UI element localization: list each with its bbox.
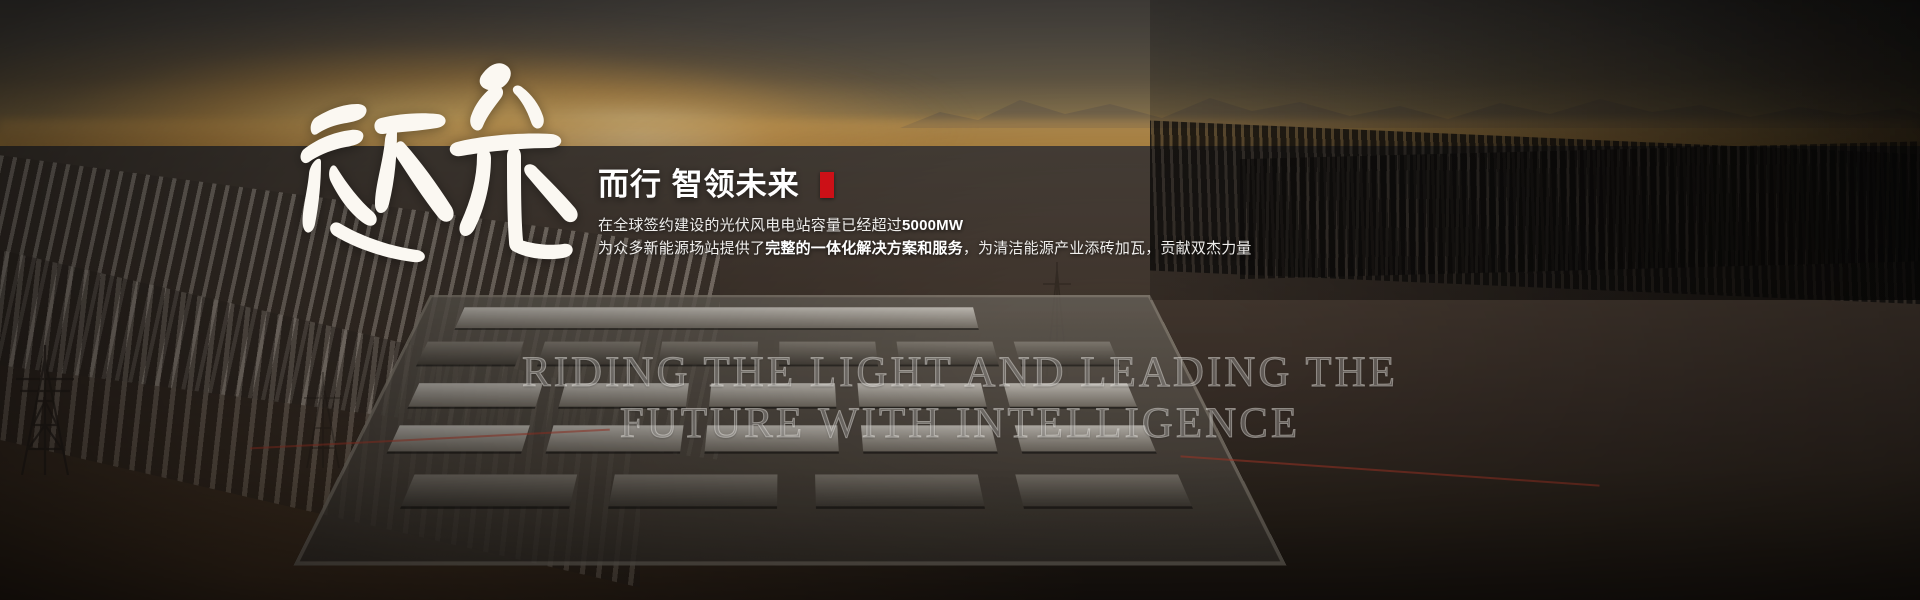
- subtitle-group: 在全球签约建设的光伏风电电站容量已经超过5000MW 为众多新能源场站提供了完整…: [598, 214, 1358, 260]
- hero-copy: 而行 智领未来 在全球签约建设的光伏风电电站容量已经超过5000MW 为众多新能…: [598, 168, 1358, 260]
- accent-block: [820, 172, 834, 198]
- yard-container: [408, 383, 542, 407]
- yard-transformer: [815, 474, 984, 506]
- subtitle-2-text-b: ，为清洁能源产业添砖加瓦，贡献双杰力量: [963, 240, 1252, 257]
- yard-unit: [417, 342, 524, 365]
- yard-container: [709, 383, 836, 407]
- yard-container: [546, 425, 683, 451]
- yard-container: [559, 383, 689, 407]
- subtitle-1-highlight: 5000MW: [902, 217, 963, 234]
- yard-container: [1015, 425, 1156, 451]
- yard-container: [861, 425, 997, 451]
- yard-unit: [1014, 342, 1120, 365]
- yard-transformer: [401, 474, 577, 506]
- transmission-tower-left: [10, 345, 80, 475]
- yard-unit: [658, 342, 758, 365]
- headline-row: 而行 智领未来: [598, 168, 1358, 203]
- yard-unit: [897, 342, 999, 365]
- page-title: 而行 智领未来: [598, 168, 800, 203]
- yard-transformer: [1015, 474, 1192, 506]
- subtitle-line-2: 为众多新能源场站提供了完整的一体化解决方案和服务，为清洁能源产业添砖加瓦，贡献双…: [598, 237, 1358, 260]
- yard-transformer: [609, 474, 778, 506]
- calligraphy-yuguang: [285, 58, 605, 273]
- subtitle-line-1: 在全球签约建设的光伏风电电站容量已经超过5000MW: [598, 214, 1358, 237]
- yard-unit: [779, 342, 878, 365]
- subtitle-2-text-a: 为众多新能源场站提供了: [598, 240, 765, 257]
- yard-container: [705, 425, 839, 451]
- yard-canopy: [455, 307, 978, 328]
- subtitle-1-text-a: 在全球签约建设的光伏风电电站容量已经超过: [598, 217, 902, 234]
- transmission-tower-mid: [300, 372, 346, 468]
- hero-banner: 而行 智领未来 在全球签约建设的光伏风电电站容量已经超过5000MW 为众多新能…: [0, 0, 1920, 600]
- yard-unit: [538, 342, 641, 365]
- yard-container: [1003, 383, 1137, 407]
- yard-container: [857, 383, 986, 407]
- subtitle-2-highlight: 完整的一体化解决方案和服务: [765, 240, 963, 257]
- battery-storage-yard: [293, 295, 1286, 566]
